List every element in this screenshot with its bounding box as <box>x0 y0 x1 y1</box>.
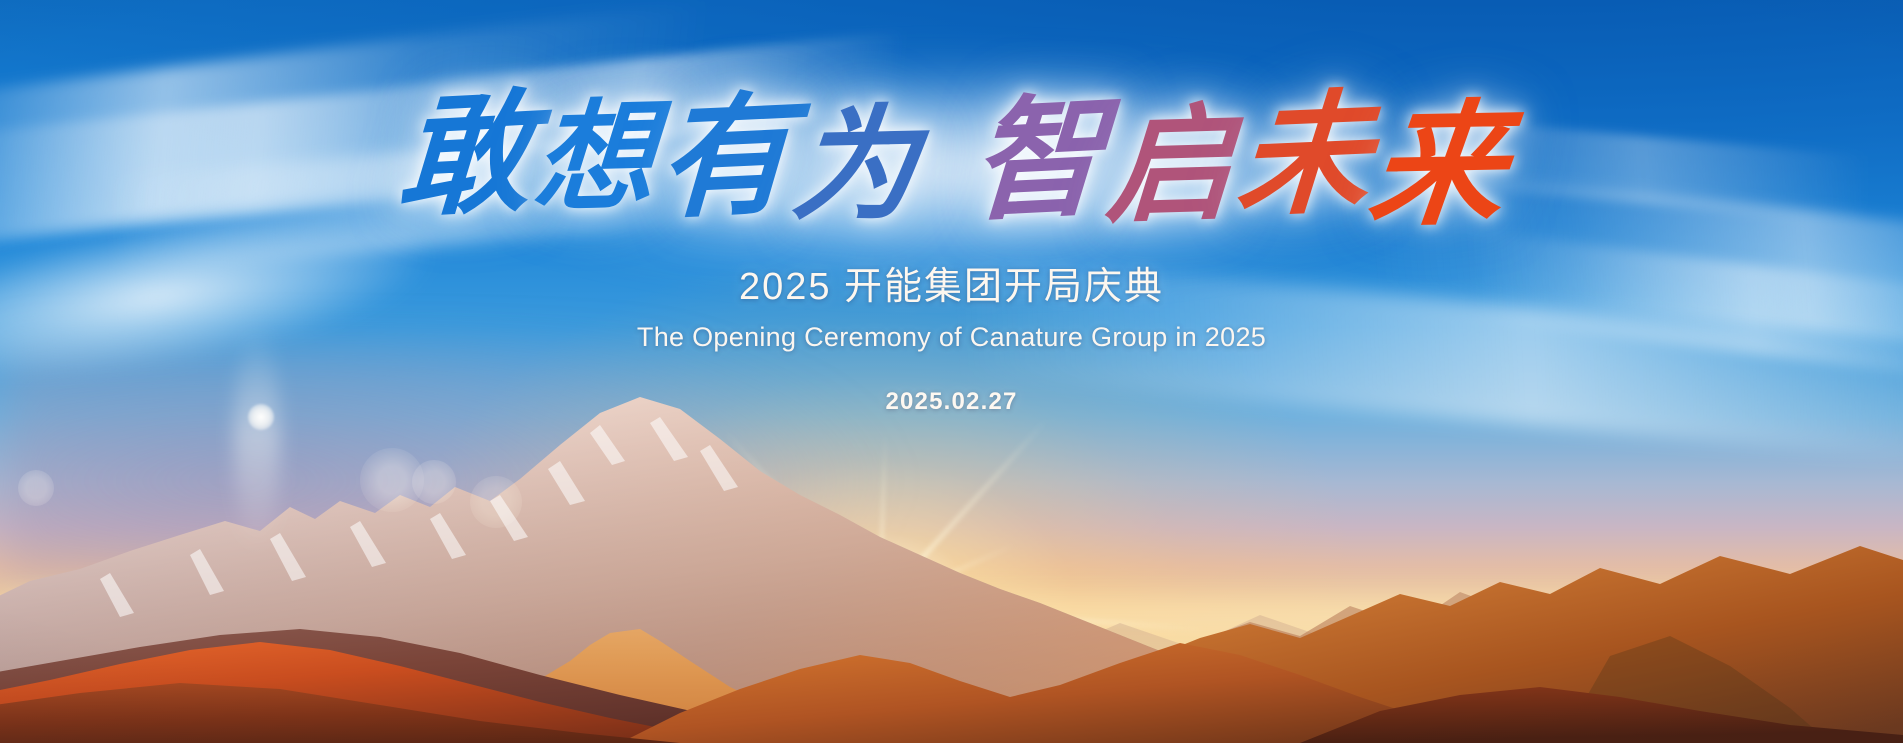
mountain-foreground-bottom <box>0 653 1903 743</box>
celebration-banner: 敢 想 有 为 智 启 未 来 2025 开能集团开局庆典 The Openin… <box>0 0 1903 743</box>
subtitle-english: The Opening Ceremony of Canature Group i… <box>0 322 1903 353</box>
text-block: 2025 开能集团开局庆典 The Opening Ceremony of Ca… <box>0 262 1903 416</box>
event-date: 2025.02.27 <box>0 388 1903 416</box>
subtitle-chinese: 2025 开能集团开局庆典 <box>0 262 1903 313</box>
